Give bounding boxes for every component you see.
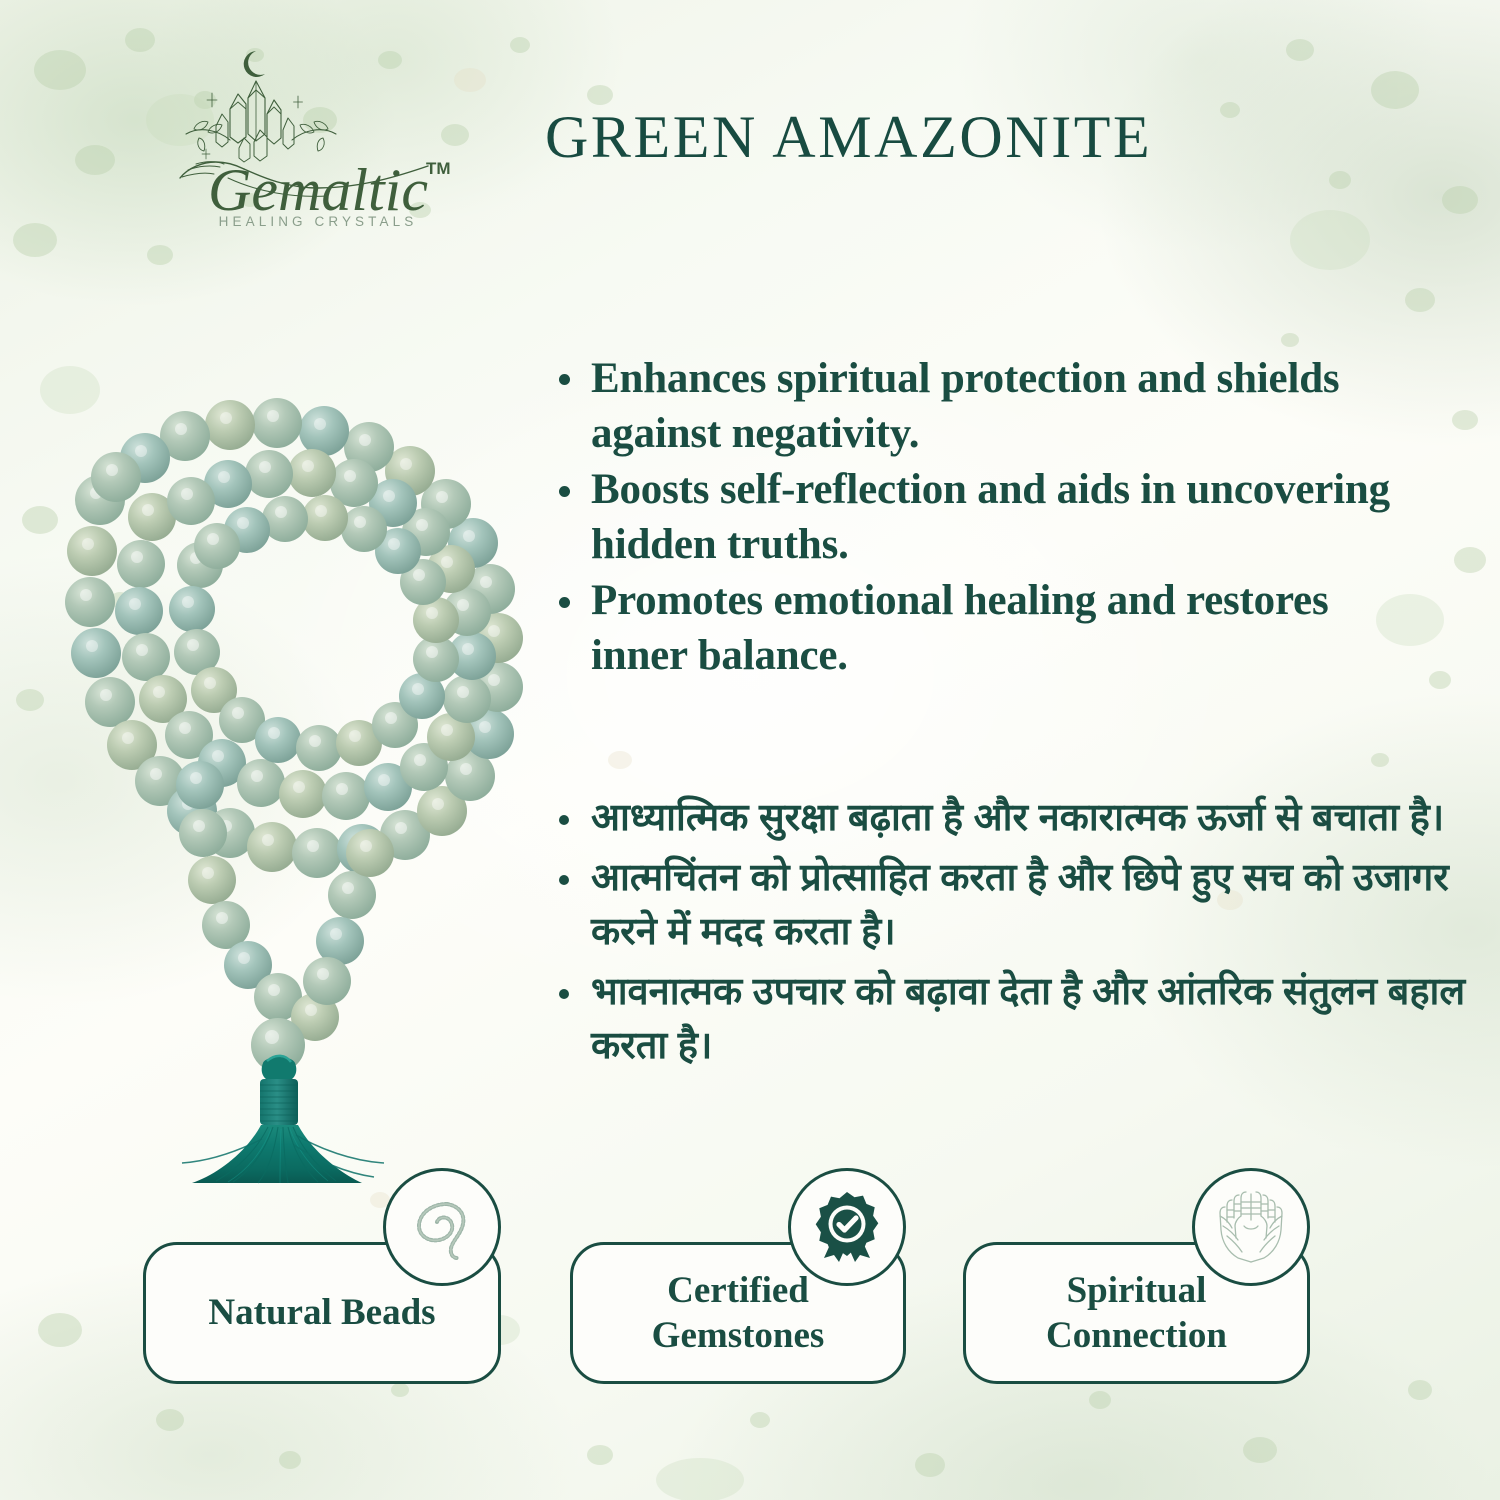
benefit-item: Promotes emotional healing and restores …	[545, 574, 1425, 683]
cupped-hands-icon	[1210, 1186, 1292, 1268]
benefit-item: Boosts self-reflection and aids in uncov…	[545, 463, 1425, 572]
badge-icon-circle	[1192, 1168, 1310, 1286]
benefits-list-english: Enhances spiritual protection and shield…	[545, 352, 1425, 686]
infographic-canvas: Gemaltic TM HEALING CRYSTALS GREEN AMAZO…	[0, 0, 1500, 1500]
feature-badge-natural-beads[interactable]: Natural Beads	[143, 1168, 501, 1384]
benefit-item-hindi: आत्मचिंतन को प्रोत्साहित करता है और छिपे…	[545, 852, 1475, 960]
benefit-item: Enhances spiritual protection and shield…	[545, 352, 1425, 461]
page-title: GREEN AMAZONITE	[545, 103, 1375, 172]
tassel	[182, 1056, 384, 1183]
logo-artwork: Gemaltic TM	[168, 38, 468, 243]
feature-badge-spiritual-connection[interactable]: Spiritual Connection	[963, 1168, 1310, 1384]
mala-necklace-artwork	[40, 255, 540, 1185]
trademark-symbol: TM	[426, 159, 451, 178]
badge-label: Natural Beads	[194, 1290, 449, 1335]
brand-logo: Gemaltic TM HEALING CRYSTALS	[168, 38, 468, 243]
product-image	[40, 255, 540, 1185]
benefits-list-hindi: आध्यात्मिक सुरक्षा बढ़ाता है और नकारात्म…	[545, 792, 1475, 1080]
badge-icon-circle	[383, 1168, 501, 1286]
benefit-item-hindi: आध्यात्मिक सुरक्षा बढ़ाता है और नकारात्म…	[545, 792, 1475, 846]
benefit-item-hindi: भावनात्मक उपचार को बढ़ावा देता है और आंत…	[545, 966, 1475, 1074]
award-ribbon-check-icon	[810, 1190, 884, 1264]
necklace-icon	[403, 1188, 481, 1266]
feature-badge-certified-gemstones[interactable]: Certified Gemstones	[570, 1168, 906, 1384]
brand-tagline: HEALING CRYSTALS	[168, 214, 468, 229]
badge-icon-circle	[788, 1168, 906, 1286]
